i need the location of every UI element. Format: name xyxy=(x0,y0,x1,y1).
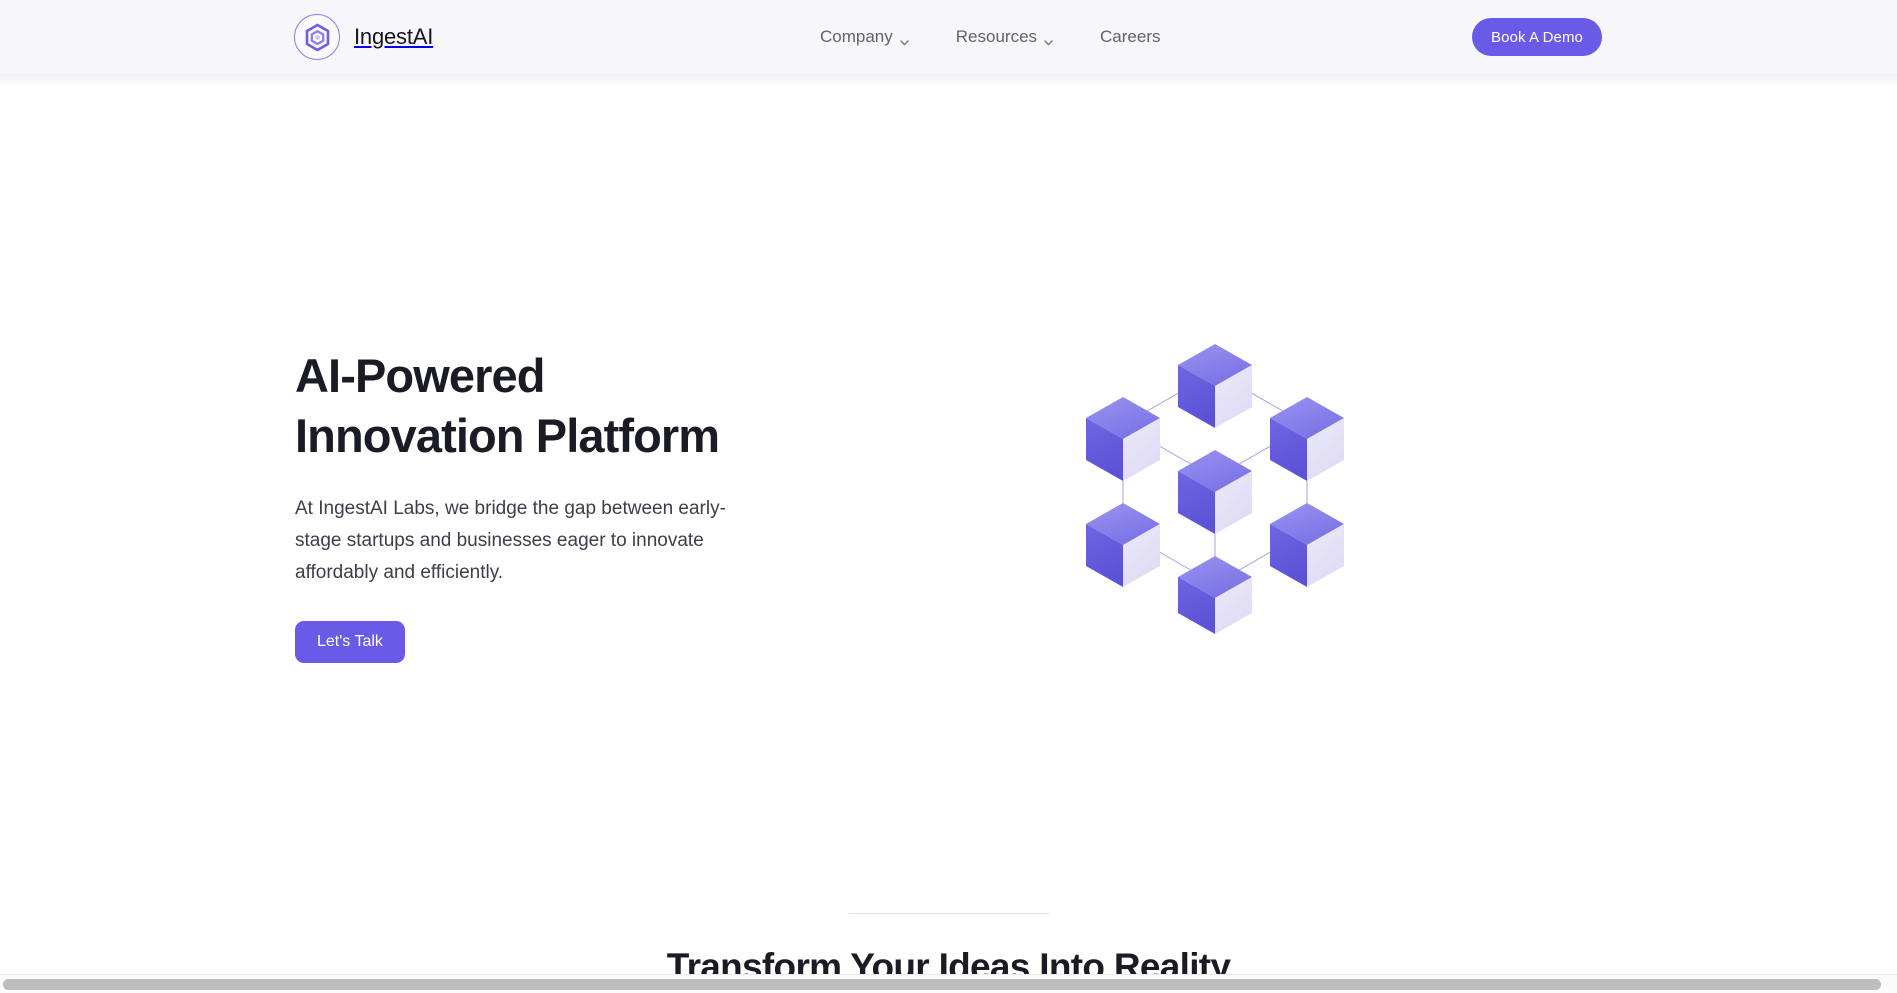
cube-right-bottom xyxy=(1270,503,1344,587)
chevron-down-icon xyxy=(1043,33,1054,44)
nav-item-resources[interactable]: Resources xyxy=(956,27,1054,47)
horizontal-scrollbar-track[interactable] xyxy=(0,974,1897,993)
site-header: IngestAI Company Resources Careers Book … xyxy=(0,0,1897,74)
book-a-demo-button[interactable]: Book A Demo xyxy=(1472,18,1602,56)
cube-left-bottom xyxy=(1086,503,1160,587)
hero-title-line-1: AI-Powered xyxy=(295,349,545,402)
cube-top xyxy=(1178,344,1252,428)
horizontal-scrollbar-thumb[interactable] xyxy=(3,979,1881,990)
nav-item-label: Careers xyxy=(1100,27,1160,47)
nav-item-company[interactable]: Company xyxy=(820,27,910,47)
page-title: AI-Powered Innovation Platform xyxy=(295,346,815,466)
nav-item-label: Resources xyxy=(956,27,1037,47)
hero-copy: AI-Powered Innovation Platform At Ingest… xyxy=(295,346,815,663)
hero-section: AI-Powered Innovation Platform At Ingest… xyxy=(0,74,1897,880)
hexagon-logo-icon xyxy=(294,14,340,60)
hero-title-line-2: Innovation Platform xyxy=(295,409,719,462)
chevron-down-icon xyxy=(899,33,910,44)
brand-name: IngestAI xyxy=(354,24,433,50)
lets-talk-button[interactable]: Let's Talk xyxy=(295,621,405,663)
brand-logo-link[interactable]: IngestAI xyxy=(294,0,433,74)
nav-item-label: Company xyxy=(820,27,893,47)
main-navigation: Company Resources Careers xyxy=(820,0,1161,74)
isometric-cube-network-icon xyxy=(1065,339,1365,639)
hero-subtitle: At IngestAI Labs, we bridge the gap betw… xyxy=(295,493,765,589)
nav-item-careers[interactable]: Careers xyxy=(1100,27,1160,47)
cube-bottom xyxy=(1178,556,1252,634)
section-divider xyxy=(849,913,1049,914)
